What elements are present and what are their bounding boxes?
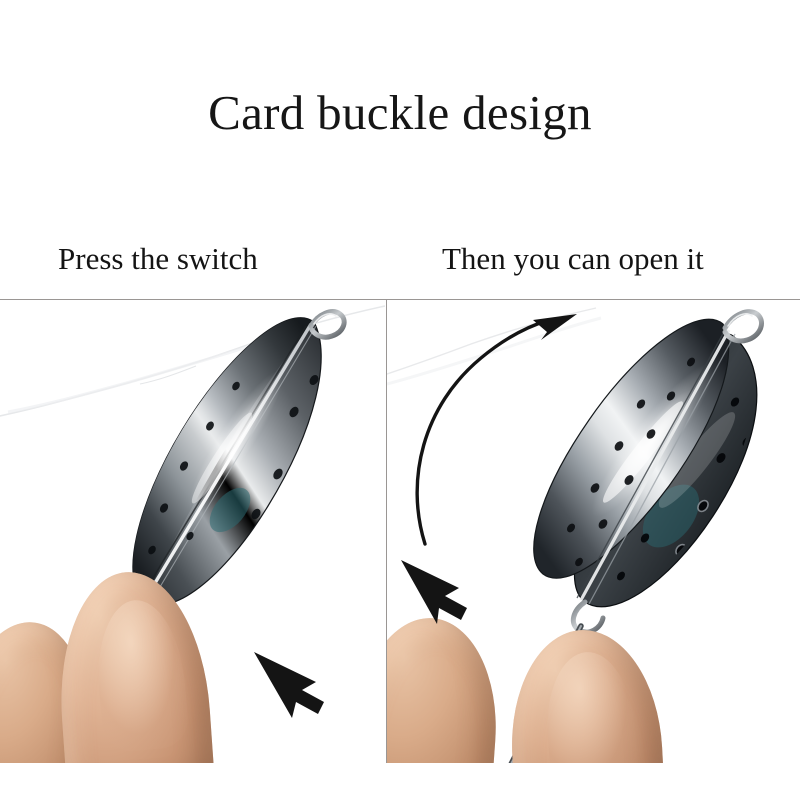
bottom-whitespace — [0, 763, 800, 800]
panel-press-switch — [0, 300, 385, 764]
panel-caption-press-switch: Press the switch — [58, 243, 258, 274]
straight-arrow-icon — [250, 630, 370, 720]
infuser-wire-handle — [118, 308, 368, 628]
tea-infuser-closed[interactable] — [118, 308, 368, 628]
panel-caption-open-it: Then you can open it — [442, 243, 704, 274]
panel-open-it — [386, 300, 800, 764]
page-title: Card buckle design — [0, 88, 800, 137]
product-infographic: Card buckle design Press the switch Then… — [0, 0, 800, 800]
panel-row — [0, 299, 800, 764]
straight-arrow-icon — [397, 542, 527, 638]
